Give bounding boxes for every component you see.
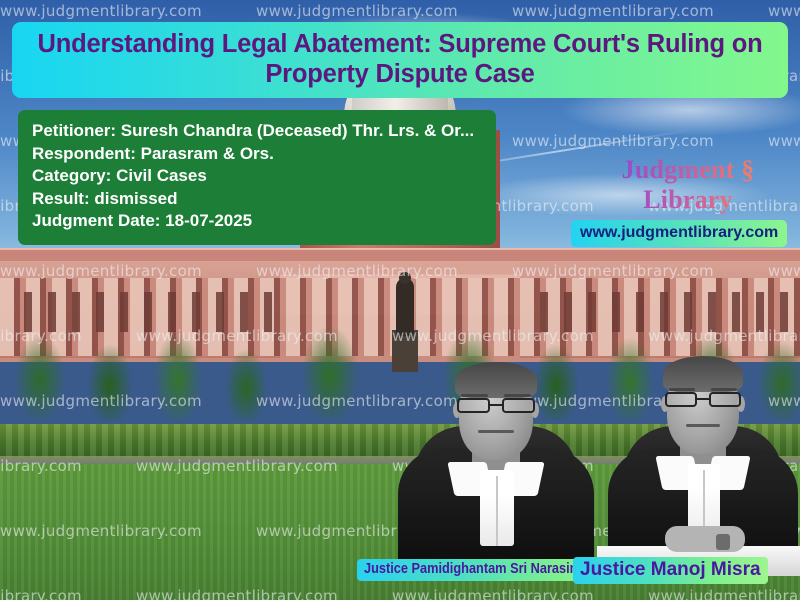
mouth [478, 430, 513, 433]
lens-right [502, 398, 535, 413]
eyebrow-left [669, 388, 696, 391]
glasses-icon [457, 398, 535, 413]
mouth [686, 424, 720, 427]
hair [455, 362, 537, 398]
judgment-date-line: Judgment Date: 18-07-2025 [32, 210, 482, 233]
respondent-line: Respondent: Parasram & Ors. [32, 143, 482, 166]
clasped-hands [665, 526, 745, 552]
lens-left [665, 392, 697, 407]
website-url-badge[interactable]: www.judgmentlibrary.com [571, 220, 787, 247]
eyebrow-left [461, 394, 488, 397]
judgment-poster: www.judgmentlibrary.comwww.judgmentlibra… [0, 0, 800, 600]
website-url-text: www.judgmentlibrary.com [580, 224, 778, 241]
poster-title-bar: Understanding Legal Abatement: Supreme C… [12, 22, 788, 98]
page-title: Understanding Legal Abatement: Supreme C… [24, 29, 776, 89]
advocate-bands [480, 470, 513, 546]
eyebrow-right [711, 388, 738, 391]
glasses-bridge [490, 404, 503, 406]
wristwatch-icon [716, 534, 730, 550]
judge-name-2: Justice Manoj Misra [580, 559, 761, 581]
judgment-library-logo: Judgment § Library [584, 155, 792, 215]
hair [663, 356, 743, 392]
glasses-bridge [697, 398, 709, 400]
judge-portrait-narasimha [398, 358, 594, 576]
statue-head [399, 272, 411, 284]
glasses-icon [665, 392, 741, 407]
petitioner-line: Petitioner: Suresh Chandra (Deceased) Th… [32, 120, 482, 143]
result-line: Result: dismissed [32, 188, 482, 211]
judge-name-1: Justice Pamidighantam Sri Narasimha [364, 561, 596, 578]
judge-name-badge-2: Justice Manoj Misra [573, 557, 768, 584]
lens-right [709, 392, 741, 407]
category-line: Category: Civil Cases [32, 165, 482, 188]
lens-left [457, 398, 490, 413]
eyebrow-right [504, 394, 531, 397]
judge-portrait-misra [608, 352, 798, 576]
case-info-box: Petitioner: Suresh Chandra (Deceased) Th… [18, 110, 496, 245]
